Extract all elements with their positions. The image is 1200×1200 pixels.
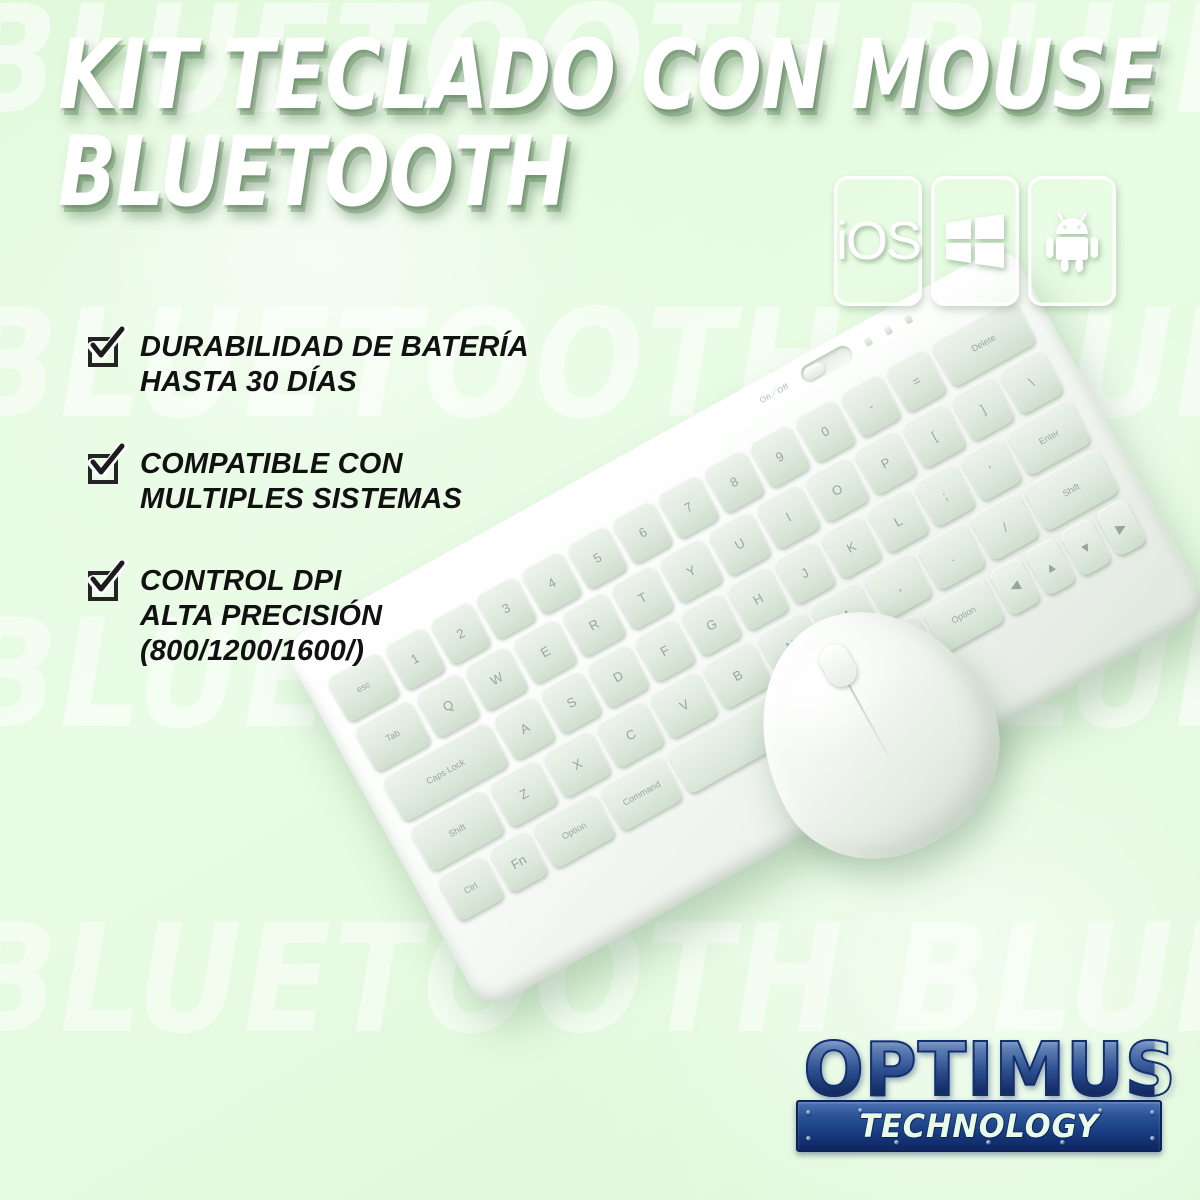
keyboard-key: Enter	[1005, 398, 1092, 477]
keyboard-key: Shift	[408, 788, 506, 872]
checkbox-checked-icon	[86, 449, 126, 489]
feature-text: COMPATIBLE CON MULTIPLES SISTEMAS	[140, 447, 462, 518]
keyboard-key: G	[679, 591, 744, 657]
logo-tagline-bar: TECHNOLOGY	[796, 1100, 1162, 1152]
feature-item: CONTROL DPI ALTA PRECISIÓN (800/1200/160…	[86, 564, 529, 670]
charge-led	[883, 325, 893, 336]
logo-tagline-text: TECHNOLOGY	[859, 1107, 1099, 1145]
feature-item: COMPATIBLE CON MULTIPLES SISTEMAS	[86, 447, 529, 518]
rivet	[806, 1110, 811, 1115]
keyboard-key: D	[586, 643, 651, 709]
os-compatibility-badges: iOS	[834, 176, 1116, 306]
keyboard-key: U	[706, 510, 773, 577]
feature-line-1: COMPATIBLE CON	[140, 447, 462, 482]
keyboard-key: Caps Lock	[381, 721, 511, 823]
keyboard-key: ]	[949, 375, 1016, 442]
keyboard-key: K	[819, 514, 884, 580]
feature-line-2: ALTA PRECISIÓN	[140, 599, 382, 634]
keyboard-key: L	[865, 488, 930, 554]
keyboard-key: '	[959, 436, 1024, 502]
keyboard-key: -	[839, 373, 903, 439]
power-switch	[797, 342, 855, 386]
keyboard-key: Ctrl	[436, 854, 505, 923]
keyboard-key: Z	[488, 759, 560, 829]
keyboard-key: 0	[793, 398, 857, 464]
feature-line-1: CONTROL DPI	[140, 564, 382, 599]
keyboard-key: X	[541, 729, 613, 799]
keyboard-key: M	[809, 581, 881, 651]
keyboard-key: 6	[611, 499, 675, 565]
keyboard-key: O	[803, 456, 870, 523]
feature-line-3: (800/1200/1600/)	[140, 634, 382, 669]
ios-icon: iOS	[836, 214, 920, 268]
keyboard-key: F	[632, 617, 697, 683]
feature-line-1: DURABILIDAD DE BATERÍA	[140, 330, 529, 365]
keyboard-key: /	[969, 492, 1041, 562]
feature-text: CONTROL DPI ALTA PRECISIÓN (800/1200/160…	[140, 564, 382, 670]
keyboard-key	[666, 651, 871, 795]
keyboard-key: Option	[921, 576, 1007, 654]
logo-brand-text: OPTIMUS	[803, 1036, 1154, 1104]
keyboard-key: \	[998, 348, 1065, 415]
mouse-scroll-wheel	[814, 639, 862, 692]
keyboard-key: [	[901, 402, 968, 469]
headline-line-1: KIT TECLADO CON MOUSE	[58, 30, 1158, 121]
bluetooth-mouse	[714, 568, 1035, 896]
keyboard-key: Option	[531, 792, 617, 870]
keyboard-key: H	[725, 565, 790, 631]
keyboard-key: Delete	[930, 298, 1037, 388]
keyboard-key: =	[884, 348, 948, 414]
keyboard-key: 5	[565, 525, 629, 591]
keyboard-key: 4	[520, 550, 584, 616]
feature-line-2: MULTIPLES SISTEMAS	[140, 482, 462, 517]
light-blob	[880, 300, 1200, 630]
keyboard-key: ;	[912, 462, 977, 528]
keyboard-key: Command	[853, 613, 939, 691]
keyboard-key: I	[755, 483, 822, 550]
keyboard-key: C	[595, 699, 667, 769]
keyboard-key: B	[702, 640, 774, 710]
rivet	[1150, 1110, 1155, 1115]
windows-icon	[944, 212, 1006, 270]
keyboard-key: .	[916, 521, 988, 591]
keyboard-key: Command	[599, 754, 685, 832]
keyboard-key: S	[539, 669, 604, 735]
keyboard-indicator-strip: On／Off	[756, 309, 916, 409]
keyboard-key: Fn	[487, 829, 549, 894]
keyboard-key: Y	[658, 537, 725, 604]
keyboard-key: ▼	[1059, 517, 1112, 577]
os-badge-android	[1028, 176, 1116, 306]
mouse-seam	[831, 655, 895, 768]
keyboard-key: ▶	[1094, 498, 1147, 558]
caps-led	[863, 336, 873, 347]
keyboard-key: Shift	[1022, 448, 1120, 532]
keyboard-key: P	[852, 429, 919, 496]
key-row: CtrlFnOptionCommandCommandOption◀▲▼▶	[436, 498, 1148, 923]
keyboard-key: V	[648, 670, 720, 740]
checkbox-checked-icon	[86, 566, 126, 606]
os-badge-windows	[931, 176, 1019, 306]
keyboard-key: ▲	[1024, 537, 1077, 597]
rivet	[806, 1136, 811, 1141]
android-icon	[1044, 209, 1100, 273]
checkbox-checked-icon	[86, 332, 126, 372]
feature-text: DURABILIDAD DE BATERÍA HASTA 30 DÍAS	[140, 330, 529, 401]
advertisement-canvas: BLUETOOTH BLUETOOTH BLUETOOTH BLUETOOTH …	[0, 0, 1200, 1200]
feature-line-2: HASTA 30 DÍAS	[140, 365, 529, 400]
os-badge-ios: iOS	[834, 176, 922, 306]
keyboard-key: 7	[656, 474, 720, 540]
feature-list: DURABILIDAD DE BATERÍA HASTA 30 DÍAS COM…	[86, 330, 529, 716]
keyboard-key: ◀	[988, 556, 1041, 616]
keyboard-key: J	[772, 540, 837, 606]
keyboard-key: R	[560, 591, 627, 658]
keyboard-key: 8	[702, 449, 766, 515]
power-led	[903, 313, 913, 324]
keyboard-key: ,	[862, 551, 934, 621]
brand-logo: OPTIMUS TECHNOLOGY	[796, 1036, 1162, 1152]
keyboard-key: 9	[748, 423, 812, 489]
feature-item: DURABILIDAD DE BATERÍA HASTA 30 DÍAS	[86, 330, 529, 401]
keyboard-key: T	[609, 564, 676, 631]
keyboard-key: N	[755, 610, 827, 680]
switch-label: On／Off	[758, 381, 791, 406]
rivet	[1150, 1136, 1155, 1141]
